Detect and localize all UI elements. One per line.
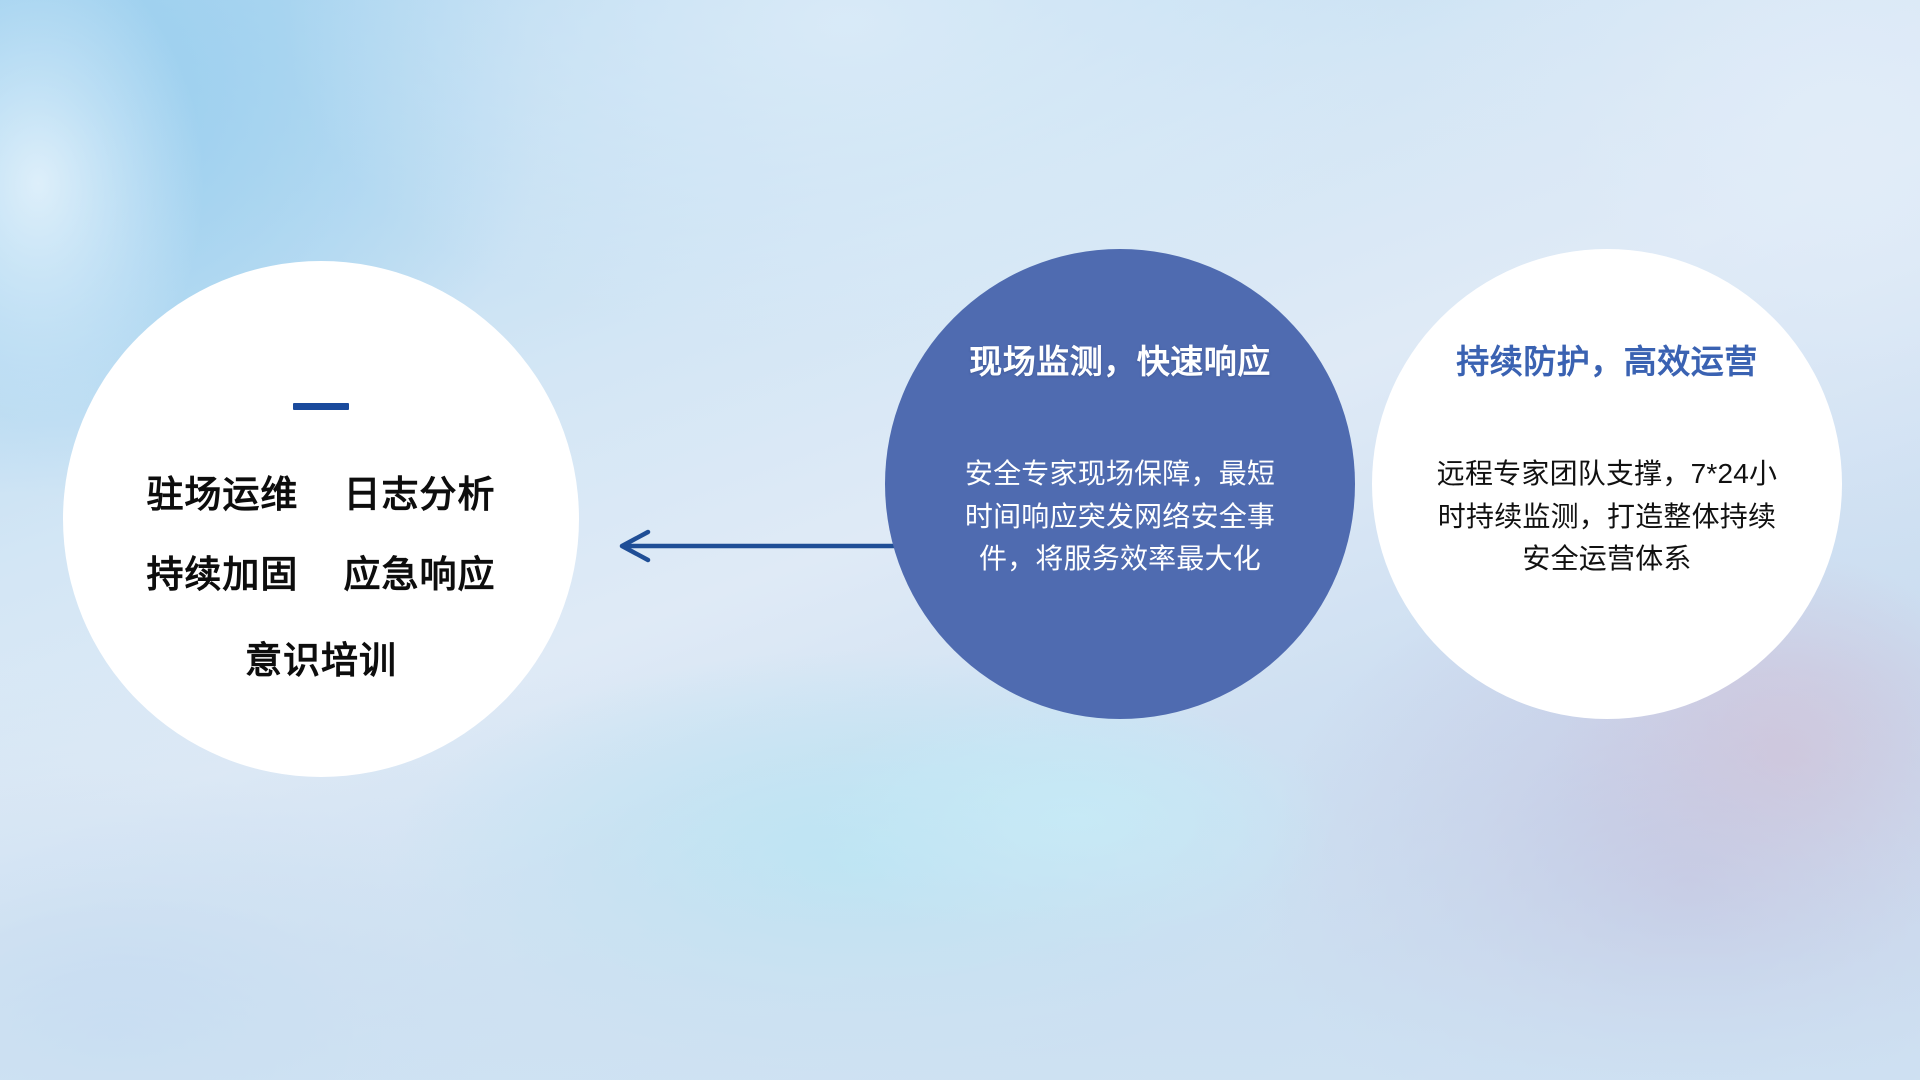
connector-arrow <box>600 518 900 574</box>
accent-divider <box>293 403 349 410</box>
diagram-canvas: 驻场运维 日志分析 持续加固 应急响应 意识培训 现场监测，快速响应 安全专家现… <box>0 0 1920 1080</box>
right-circle-body: 远程专家团队支撑，7*24小时持续监测，打造整体持续安全运营体系 <box>1427 453 1787 581</box>
middle-circle-body: 安全专家现场保障，最短时间响应突发网络安全事件，将服务效率最大化 <box>960 453 1280 581</box>
right-circle-content: 持续防护，高效运营 远程专家团队支撑，7*24小时持续监测，打造整体持续安全运营… <box>1372 249 1842 719</box>
left-circle-content: 驻场运维 日志分析 持续加固 应急响应 意识培训 <box>63 261 579 777</box>
right-circle-title: 持续防护，高效运营 <box>1456 335 1758 383</box>
middle-circle-content: 现场监测，快速响应 安全专家现场保障，最短时间响应突发网络安全事件，将服务效率最… <box>885 249 1355 719</box>
arrow-shaft-group <box>622 532 900 560</box>
left-keyword-line-3: 意识培训 <box>245 642 397 679</box>
middle-circle-title: 现场监测，快速响应 <box>969 335 1271 383</box>
left-keyword-line-1: 驻场运维 日志分析 <box>146 476 495 513</box>
middle-onsite-circle[interactable]: 现场监测，快速响应 安全专家现场保障，最短时间响应突发网络安全事件，将服务效率最… <box>885 249 1355 719</box>
left-capability-circle[interactable]: 驻场运维 日志分析 持续加固 应急响应 意识培训 <box>63 261 579 777</box>
right-operations-circle[interactable]: 持续防护，高效运营 远程专家团队支撑，7*24小时持续监测，打造整体持续安全运营… <box>1372 249 1842 719</box>
left-keyword-line-2: 持续加固 应急响应 <box>146 556 495 593</box>
